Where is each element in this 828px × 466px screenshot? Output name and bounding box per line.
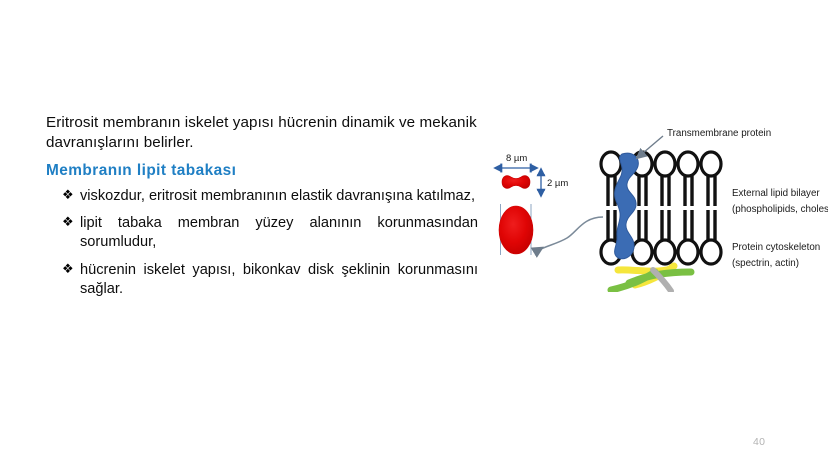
diamond-bullet-icon: ❖ bbox=[62, 261, 74, 278]
bullet-list: ❖ viskozdur, eritrosit membranının elast… bbox=[46, 187, 478, 300]
height-dimension-2um: 2 µm bbox=[537, 175, 568, 190]
slide-canvas: Eritrosit membranın iskelet yapısı hücre… bbox=[0, 0, 828, 466]
diamond-bullet-icon: ❖ bbox=[62, 187, 74, 204]
phospholipid bbox=[678, 152, 698, 206]
label-protein-cytoskeleton: Protein cytoskeleton bbox=[732, 242, 820, 253]
label-transmembrane-protein: Transmembrane protein bbox=[667, 128, 771, 139]
diamond-bullet-icon: ❖ bbox=[62, 214, 74, 231]
phospholipid bbox=[632, 210, 652, 264]
erythrocyte-face-view bbox=[499, 206, 533, 254]
biconcave-erythrocyte-shape bbox=[502, 176, 530, 189]
height-dimension-label: 2 µm bbox=[547, 178, 568, 189]
list-item: ❖ viskozdur, eritrosit membranının elast… bbox=[62, 187, 478, 206]
phospholipid bbox=[655, 210, 675, 264]
list-item: ❖ lipit tabaka membran yüzey alanının ko… bbox=[62, 214, 478, 252]
phospholipid bbox=[678, 210, 698, 264]
list-item-text: hücrenin iskelet yapısı, bikonkav disk ş… bbox=[80, 261, 478, 299]
membrane-diagram-figure: 8 µm 2 µm bbox=[485, 120, 828, 292]
label-external-lipid-bilayer: External lipid bilayer bbox=[732, 188, 820, 199]
text-content-block: Eritrosit membranın iskelet yapısı hücre… bbox=[46, 113, 478, 299]
label-bilayer-components: (phospholipids, cholesterol) bbox=[732, 204, 828, 215]
lipid-bilayer-group bbox=[601, 152, 721, 264]
width-dimension-8um: 8 µm bbox=[501, 153, 531, 173]
list-item-text: viskozdur, eritrosit membranının elastik… bbox=[80, 187, 478, 206]
connector-callout-line bbox=[535, 217, 603, 252]
membrane-diagram-svg: 8 µm 2 µm bbox=[485, 120, 828, 292]
erythrocyte-size-illustration: 8 µm 2 µm bbox=[499, 153, 568, 255]
phospholipid bbox=[655, 152, 675, 206]
transmembrane-leader-line bbox=[643, 136, 663, 153]
width-dimension-label: 8 µm bbox=[506, 153, 527, 164]
label-cytoskeleton-components: (spectrin, actin) bbox=[732, 258, 799, 269]
list-item-text: lipit tabaka membran yüzey alanının koru… bbox=[80, 214, 478, 252]
cytoskeleton-filaments bbox=[611, 266, 691, 291]
intro-paragraph: Eritrosit membranın iskelet yapısı hücre… bbox=[46, 113, 478, 153]
list-item: ❖ hücrenin iskelet yapısı, bikonkav disk… bbox=[62, 261, 478, 299]
section-heading: Membranın lipit tabakası bbox=[46, 162, 478, 180]
page-number: 40 bbox=[753, 436, 765, 448]
phospholipid bbox=[701, 210, 721, 264]
phospholipid bbox=[701, 152, 721, 206]
